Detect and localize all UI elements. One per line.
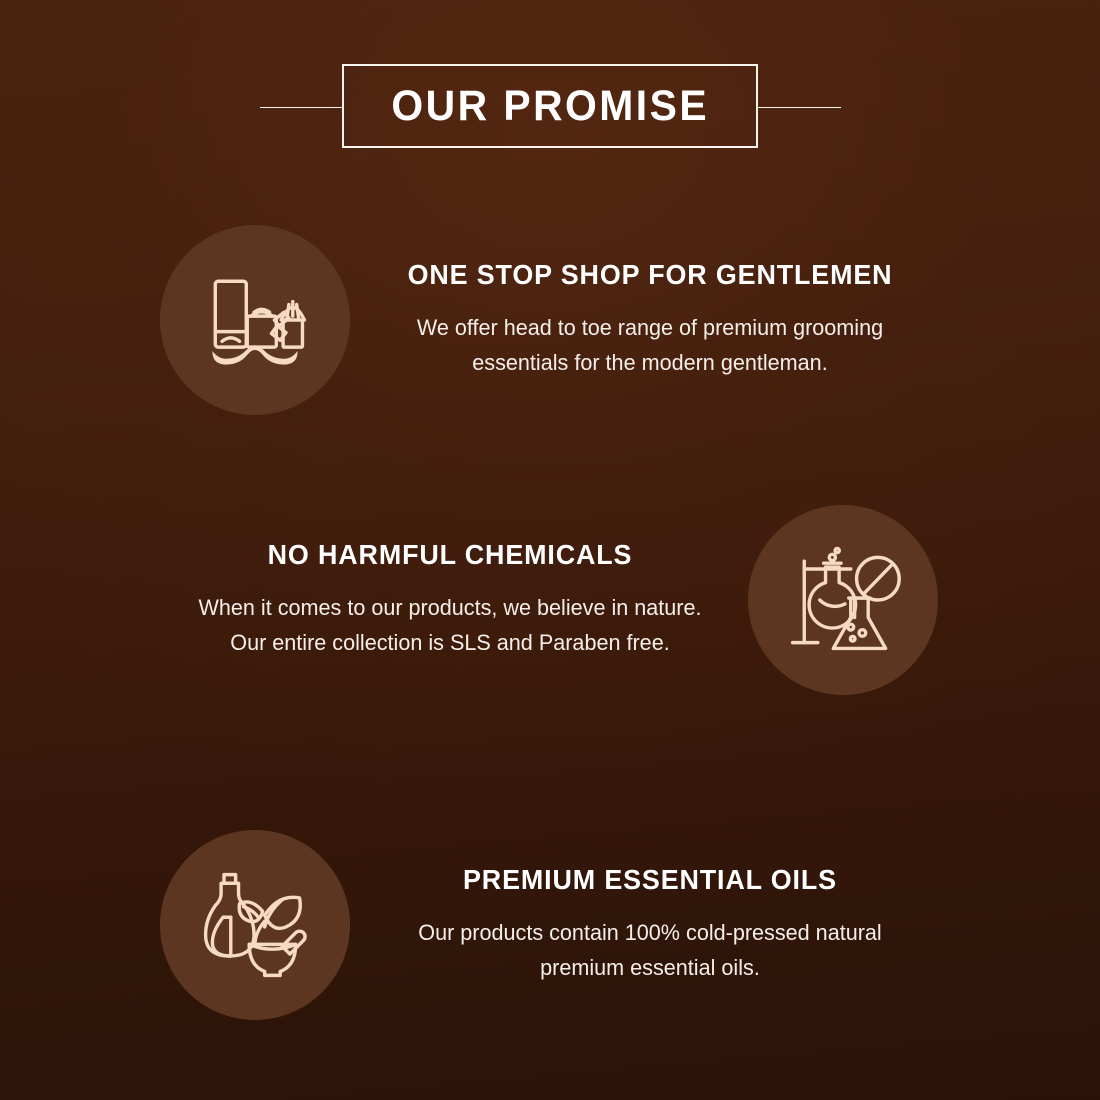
no-chemicals-flask-icon	[781, 538, 905, 662]
feature-description: When it comes to our products, we believ…	[181, 591, 719, 661]
essential-oils-mortar-icon-circle	[160, 830, 350, 1020]
header-rule-left-line	[260, 107, 344, 108]
our-promise-banner: OUR PROMISE	[0, 0, 1100, 1100]
feature-description: We offer head to toe range of premium gr…	[381, 311, 919, 381]
grooming-kit-icon	[193, 258, 317, 382]
feature-title: PREMIUM ESSENTIAL OILS	[381, 864, 919, 896]
feature-title: ONE STOP SHOP FOR GENTLEMEN	[381, 259, 919, 291]
feature-row-premium-essential-oils: PREMIUM ESSENTIAL OILS Our products cont…	[0, 815, 1100, 1035]
grooming-kit-icon-circle	[160, 225, 350, 415]
feature-text-no-harmful-chemicals: NO HARMFUL CHEMICALS When it comes to ou…	[170, 539, 730, 661]
feature-row-one-stop-shop: ONE STOP SHOP FOR GENTLEMEN We offer hea…	[0, 210, 1100, 430]
feature-text-premium-essential-oils: PREMIUM ESSENTIAL OILS Our products cont…	[370, 864, 930, 986]
feature-title: NO HARMFUL CHEMICALS	[181, 539, 719, 571]
feature-text-one-stop-shop: ONE STOP SHOP FOR GENTLEMEN We offer hea…	[370, 259, 930, 381]
banner-header: OUR PROMISE	[0, 64, 1100, 150]
essential-oils-mortar-icon	[193, 863, 317, 987]
header-title-box: OUR PROMISE	[342, 64, 758, 148]
header-rule-right-line	[757, 107, 841, 108]
no-chemicals-flask-icon-circle	[748, 505, 938, 695]
feature-row-no-harmful-chemicals: NO HARMFUL CHEMICALS When it comes to ou…	[0, 490, 1100, 710]
feature-description: Our products contain 100% cold-pressed n…	[381, 916, 919, 986]
page-title: OUR PROMISE	[391, 85, 709, 128]
